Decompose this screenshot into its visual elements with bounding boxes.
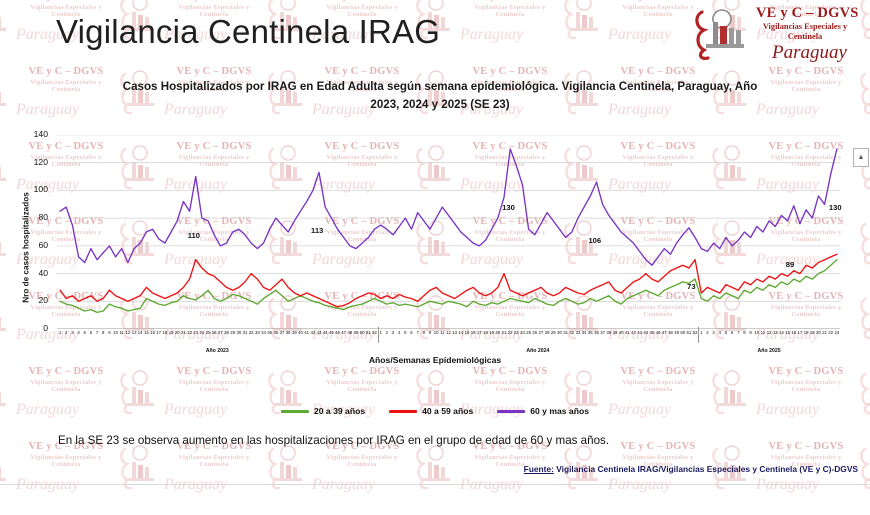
data-point-label: 106 [588, 236, 601, 245]
x-axis-title: Años/Semanas Epidemiológicas [0, 355, 870, 365]
organization-logo: VE y C – DGVS Vigilancias Especiales y C… [684, 2, 866, 68]
sentinel-logo-icon [692, 6, 754, 62]
footer-note: En la SE 23 se observa aumento en las ho… [58, 434, 609, 447]
y-axis-tick-label: 0 [18, 323, 48, 333]
x-axis-year-label: Año 2023 [187, 348, 247, 354]
legend-label: 60 y mas años [530, 406, 589, 416]
chart-title: Casos Hospitalizados por IRAG en Edad Ad… [120, 78, 760, 114]
series-lines [57, 135, 840, 329]
legend-label: 20 a 39 años [314, 406, 365, 416]
chart-legend: 20 a 39 años40 a 59 años60 y mas años [0, 406, 870, 416]
y-axis-tick-label: 140 [18, 129, 48, 139]
y-axis-tick-label: 120 [18, 157, 48, 167]
footer-source: Fuente: Vigilancia Centinela IRAG/Vigila… [524, 464, 858, 474]
legend-color-swatch [497, 410, 525, 413]
chart-container: Casos Hospitalizados por IRAG en Edad Ad… [0, 68, 870, 428]
data-point-label: 113 [311, 226, 323, 235]
x-axis-year-label: Año 2024 [508, 348, 568, 354]
plot-area [57, 135, 840, 329]
data-point-label: 130 [502, 203, 515, 212]
year-separator [698, 327, 699, 343]
source-label: Fuente: [524, 464, 554, 474]
legend-color-swatch [281, 410, 309, 413]
page-title: Vigilancia Centinela IRAG [56, 13, 440, 51]
legend-color-swatch [389, 410, 417, 413]
legend-item[interactable]: 20 a 39 años [281, 406, 365, 416]
year-separator [378, 327, 379, 343]
scroll-up-button[interactable]: ▲ [853, 148, 869, 167]
y-axis-tick-label: 80 [18, 212, 48, 222]
logo-subtitle: Vigilancias Especiales y Centinela [746, 22, 864, 42]
data-point-label: 89 [786, 260, 794, 269]
source-text: Vigilancia Centinela IRAG/Vigilancias Es… [554, 464, 858, 474]
y-axis-tick-label: 20 [18, 295, 48, 305]
data-point-label: 110 [188, 231, 200, 240]
y-axis-tick-label: 40 [18, 268, 48, 278]
data-point-label: 73 [687, 282, 695, 291]
x-axis-tick-label: 23 [832, 330, 842, 335]
logo-title: VE y C – DGVS [756, 5, 859, 22]
footer-band: En la SE 23 se observa aumento en las ho… [0, 428, 870, 489]
data-point-label: 130 [829, 203, 842, 212]
legend-item[interactable]: 60 y mas años [497, 406, 589, 416]
legend-item[interactable]: 40 a 59 años [389, 406, 473, 416]
logo-country: Paraguay [772, 42, 847, 64]
y-axis-tick-label: 100 [18, 184, 48, 194]
x-axis-year-label: Año 2025 [739, 348, 799, 354]
legend-label: 40 a 59 años [422, 406, 473, 416]
y-axis-tick-label: 60 [18, 240, 48, 250]
x-axis-ticks: 1234567891011121314151617181920212223242… [57, 330, 840, 344]
